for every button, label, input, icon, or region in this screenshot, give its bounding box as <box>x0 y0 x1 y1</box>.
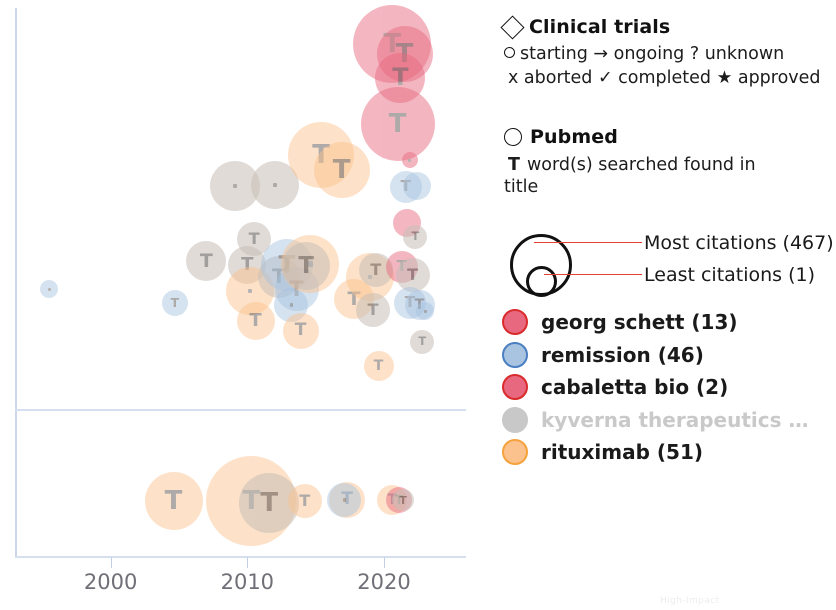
title-match-glyph-icon: T <box>249 231 260 247</box>
bubble-rituximab[interactable]: T <box>314 142 370 198</box>
no-title-match-dot-icon <box>408 159 411 162</box>
x-tick-label-2020: 2020 <box>357 570 410 594</box>
title-match-glyph-icon: T <box>407 267 418 283</box>
circle-icon <box>504 128 522 146</box>
x-tick-label-2010: 2010 <box>221 570 274 594</box>
bubble-kyverna-therapeutics[interactable]: T <box>392 489 414 511</box>
legend-item-remission[interactable]: remission (46) <box>502 339 836 372</box>
legend-swatch-icon <box>502 374 528 400</box>
bubble-cabaletta-bio[interactable] <box>402 152 418 168</box>
title-match-glyph-icon: T <box>418 336 426 347</box>
series-legend-list[interactable]: georg schett (13)remission (46)cabaletta… <box>502 306 836 469</box>
least-citations-label: Least citations (1) <box>644 264 815 286</box>
bubble-rituximab[interactable]: T <box>145 472 203 530</box>
pubmed-description: Tword(s) searched found in title <box>504 154 794 199</box>
most-citations-leader-line <box>534 242 642 243</box>
bubble-rituximab[interactable]: T <box>237 302 275 340</box>
title-match-glyph-icon: T <box>200 252 213 271</box>
title-match-glyph-icon: T <box>295 322 307 339</box>
bubble-kyverna-therapeutics[interactable]: T <box>410 330 434 354</box>
legend-item-label: georg schett (13) <box>541 310 738 334</box>
small-circle-icon <box>504 47 515 58</box>
legend-item-label: kyverna therapeutics … <box>541 408 808 432</box>
bubble-remission[interactable] <box>416 302 434 320</box>
title-match-glyph-icon: T <box>260 490 278 516</box>
title-match-glyph-icon: T <box>370 262 381 278</box>
legend-swatch-icon <box>502 309 528 335</box>
trials-panel-y-axis <box>15 412 17 557</box>
legend-item-rituximab[interactable]: rituximab (51) <box>502 436 836 469</box>
pubmed-title-glyph-icon: T <box>504 155 520 175</box>
no-title-match-dot-icon <box>343 498 346 501</box>
bubble-remission[interactable] <box>40 280 58 298</box>
legend-swatch-icon <box>502 407 528 433</box>
title-match-glyph-icon: T <box>368 302 379 318</box>
bubble-rituximab[interactable]: T <box>288 484 322 518</box>
title-match-glyph-icon: T <box>412 231 420 242</box>
legend-swatch-icon <box>502 342 528 368</box>
title-match-glyph-icon: T <box>249 312 261 330</box>
pubmed-description-text: word(s) searched found in title <box>504 155 756 197</box>
pubmed-panel-y-axis <box>15 8 17 412</box>
bubble-kyverna-therapeutics[interactable]: T <box>356 293 390 327</box>
no-title-match-dot-icon <box>273 183 277 187</box>
x-axis-line <box>15 556 466 558</box>
legend-swatch-icon <box>502 439 528 465</box>
legend-item-label: remission (46) <box>541 343 704 367</box>
title-match-glyph-icon: T <box>171 297 179 309</box>
legend-panel: Clinical trials starting → ongoing ? unk… <box>498 0 836 610</box>
bubble-remission[interactable] <box>403 172 431 200</box>
title-match-glyph-icon: T <box>299 493 310 509</box>
pubmed-heading: Pubmed <box>504 126 834 148</box>
title-match-glyph-icon: T <box>165 488 183 514</box>
x-tick-2010 <box>247 557 248 568</box>
title-match-glyph-icon: T <box>399 495 407 506</box>
footnote-text: High-Impact <box>660 596 719 606</box>
legend-item-kyverna-therapeutics[interactable]: kyverna therapeutics … <box>502 404 836 437</box>
bubble-kyverna-therapeutics[interactable]: T <box>403 225 427 249</box>
title-match-glyph-icon: T <box>298 255 314 278</box>
no-title-match-dot-icon <box>48 288 51 291</box>
bubble-kyverna-therapeutics[interactable]: T <box>186 241 226 281</box>
legend-item-cabaletta-bio[interactable]: cabaletta bio (2) <box>502 371 836 404</box>
title-match-glyph-icon: T <box>333 157 351 183</box>
legend-item-georg-schett[interactable]: georg schett (13) <box>502 306 836 339</box>
legend-item-label: rituximab (51) <box>541 440 703 464</box>
least-citations-ring-icon <box>526 266 557 297</box>
bubble-rituximab[interactable]: T <box>364 351 394 381</box>
clinical-trials-title: Clinical trials <box>529 16 670 38</box>
clinical-trials-status-line-2: x aborted ✓ completed ★ approved <box>504 67 834 89</box>
title-match-glyph-icon: T <box>374 359 384 373</box>
least-citations-leader-line <box>544 274 642 275</box>
x-tick-2020 <box>384 557 385 568</box>
most-citations-label: Most citations (467) <box>644 232 834 254</box>
clinical-trials-status-line-1: starting → ongoing ? unknown <box>504 43 834 65</box>
no-title-match-dot-icon <box>248 289 252 293</box>
clinical-trials-heading: Clinical trials <box>504 16 834 38</box>
legend-item-label: cabaletta bio (2) <box>541 375 728 399</box>
bubble-kyverna-therapeutics[interactable]: T <box>282 242 330 290</box>
citation-size-key: Most citations (467) Least citations (1) <box>504 230 834 306</box>
x-tick-2000 <box>111 557 112 568</box>
bubble-georg-schett[interactable]: T <box>361 87 435 161</box>
clinical-trials-status-line-1-text: starting → ongoing ? unknown <box>520 44 784 64</box>
diamond-icon <box>500 15 524 39</box>
no-title-match-dot-icon <box>290 303 293 306</box>
bubble-remission[interactable] <box>327 483 361 517</box>
no-title-match-dot-icon <box>424 310 427 313</box>
bubble-chart[interactable]: TTTTTTTTTTTTTTTTTTTTTTTTTTTTTTTTTTT 2000… <box>0 0 500 610</box>
x-tick-label-2000: 2000 <box>84 570 137 594</box>
bubble-rituximab[interactable]: T <box>283 313 319 349</box>
pubmed-title: Pubmed <box>530 126 618 148</box>
no-title-match-dot-icon <box>233 184 238 189</box>
panel-divider <box>15 409 466 411</box>
title-match-glyph-icon: T <box>389 111 407 137</box>
bubble-remission[interactable]: T <box>162 290 188 316</box>
